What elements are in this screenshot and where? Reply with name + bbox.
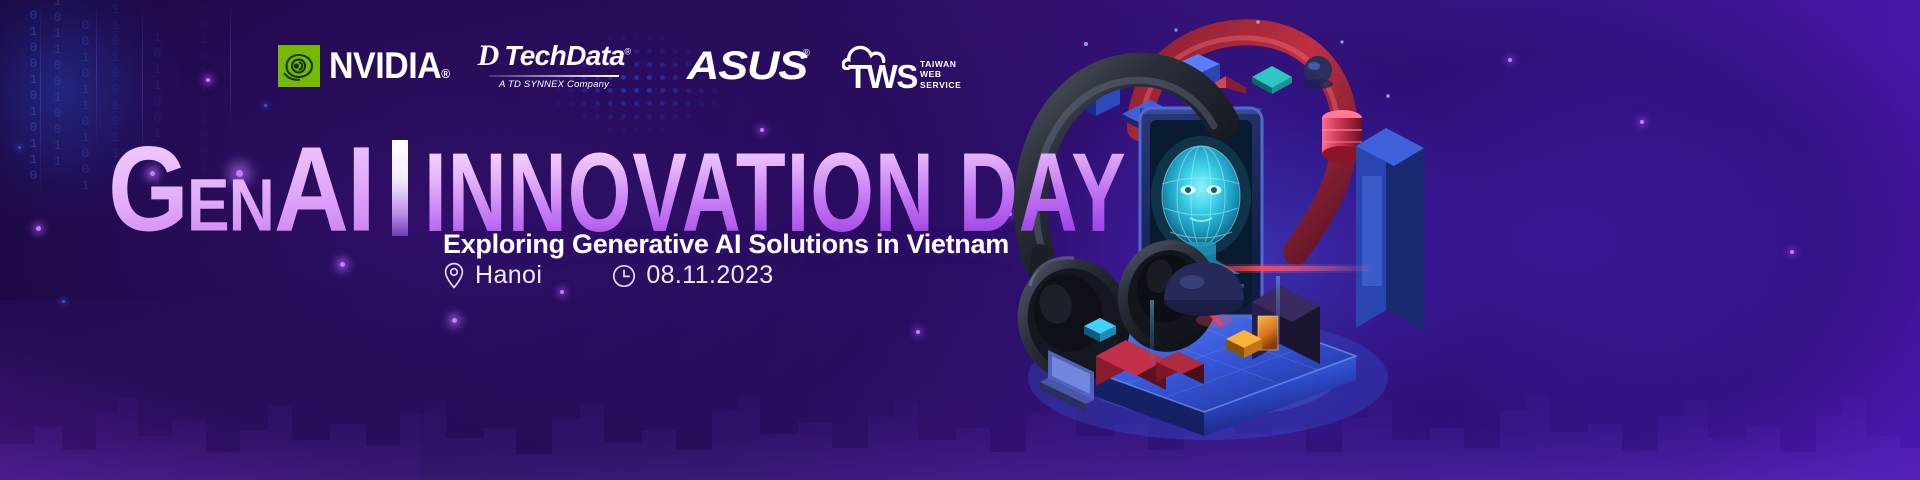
tws-sublines: TAIWAN WEB SERVICE: [920, 59, 961, 93]
techdata-tagline: A TD SYNNEX Company: [499, 79, 609, 90]
genai-brandmark: GENAI: [108, 141, 374, 240]
genai-letter-g: G: [108, 123, 187, 258]
headline-divider-bar: [392, 140, 408, 236]
tws-line-taiwan: TAIWAN: [920, 59, 961, 70]
logo-asus: ASUS ®: [687, 46, 811, 86]
techdata-wordmark: TechData®: [504, 42, 630, 70]
event-subtitle: Exploring Generative AI Solutions in Vie…: [443, 229, 1009, 260]
city-skyline-silhouette: [0, 340, 1920, 480]
binary-code-column: 01001010110: [26, 8, 41, 184]
headline-main-text: INNOVATION DAY: [424, 145, 1127, 240]
tws-line-web: WEB: [920, 69, 961, 80]
genai-letters-en: EN: [187, 163, 274, 247]
event-headline: GENAI INNOVATION DAY: [108, 140, 1179, 240]
tws-wordmark: TWS: [848, 60, 917, 93]
clock-icon: [612, 264, 636, 288]
logo-tech-data: D TechData® A TD SYNNEX Company: [478, 41, 631, 92]
nvidia-eye-icon: [278, 45, 320, 87]
location-pin-icon: [443, 262, 465, 289]
meta-location-label: Hanoi: [475, 261, 542, 290]
genai-innovation-day-banner: 01001010110 10110010011 00101101001 1101…: [0, 0, 1920, 480]
event-meta-row: Hanoi 08.11.2023: [443, 261, 774, 290]
meta-location: Hanoi: [443, 261, 542, 290]
genai-letters-ai: AI: [274, 123, 374, 258]
nvidia-wordmark: NVIDIA®: [329, 48, 450, 85]
techdata-rule: [489, 75, 620, 77]
logo-taiwan-web-service: TWS TAIWAN WEB SERVICE: [848, 40, 961, 92]
meta-date-label: 08.11.2023: [646, 261, 773, 290]
partner-logo-row: NVIDIA® D TechData® A TD SYNNEX Company …: [278, 38, 961, 94]
meta-date: 08.11.2023: [612, 261, 773, 290]
binary-code-column: 10110010011: [50, 0, 65, 170]
logo-nvidia: NVIDIA®: [278, 45, 450, 87]
binary-code-column: 00101101001: [78, 18, 93, 194]
bottom-left-glow: [0, 300, 420, 480]
techdata-monogram: D: [478, 41, 500, 71]
tws-line-service: SERVICE: [920, 80, 961, 91]
asus-wordmark: ASUS: [687, 46, 807, 86]
